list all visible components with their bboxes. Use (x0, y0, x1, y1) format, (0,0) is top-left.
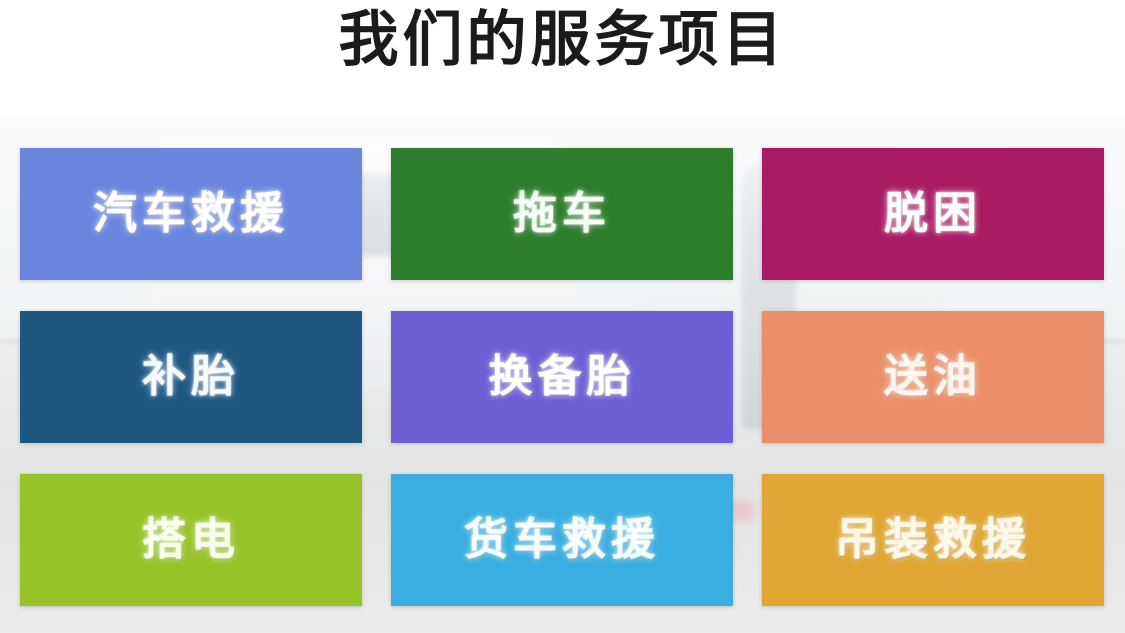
tile-extrication[interactable]: 脱困 (762, 148, 1104, 280)
service-tile-grid: 汽车救援拖车脱困补胎换备胎送油搭电货车救援吊装救援 (20, 148, 1105, 606)
tile-towing[interactable]: 拖车 (391, 148, 733, 280)
tile-label: 拖车 (513, 192, 611, 236)
tile-truck-rescue[interactable]: 货车救援 (391, 474, 733, 606)
tile-car-rescue[interactable]: 汽车救援 (20, 148, 362, 280)
service-poster: 我们的服务项目 汽车救援拖车脱困补胎换备胎送油搭电货车救援吊装救援 (0, 0, 1125, 633)
tile-label: 吊装救援 (835, 518, 1031, 562)
tile-jump-start[interactable]: 搭电 (20, 474, 362, 606)
tile-label: 货车救援 (464, 518, 660, 562)
tile-hoisting-rescue[interactable]: 吊装救援 (762, 474, 1104, 606)
tile-tire-repair[interactable]: 补胎 (20, 311, 362, 443)
tile-label: 脱困 (884, 192, 982, 236)
tile-label: 补胎 (142, 355, 240, 399)
tile-spare-tire-change[interactable]: 换备胎 (391, 311, 733, 443)
tile-label: 换备胎 (489, 355, 636, 399)
tile-fuel-delivery[interactable]: 送油 (762, 311, 1104, 443)
tile-label: 搭电 (142, 518, 240, 562)
title-bar: 我们的服务项目 (0, 0, 1125, 116)
tile-label: 送油 (884, 355, 982, 399)
tile-label: 汽车救援 (93, 192, 289, 236)
page-title: 我们的服务项目 (339, 10, 787, 70)
